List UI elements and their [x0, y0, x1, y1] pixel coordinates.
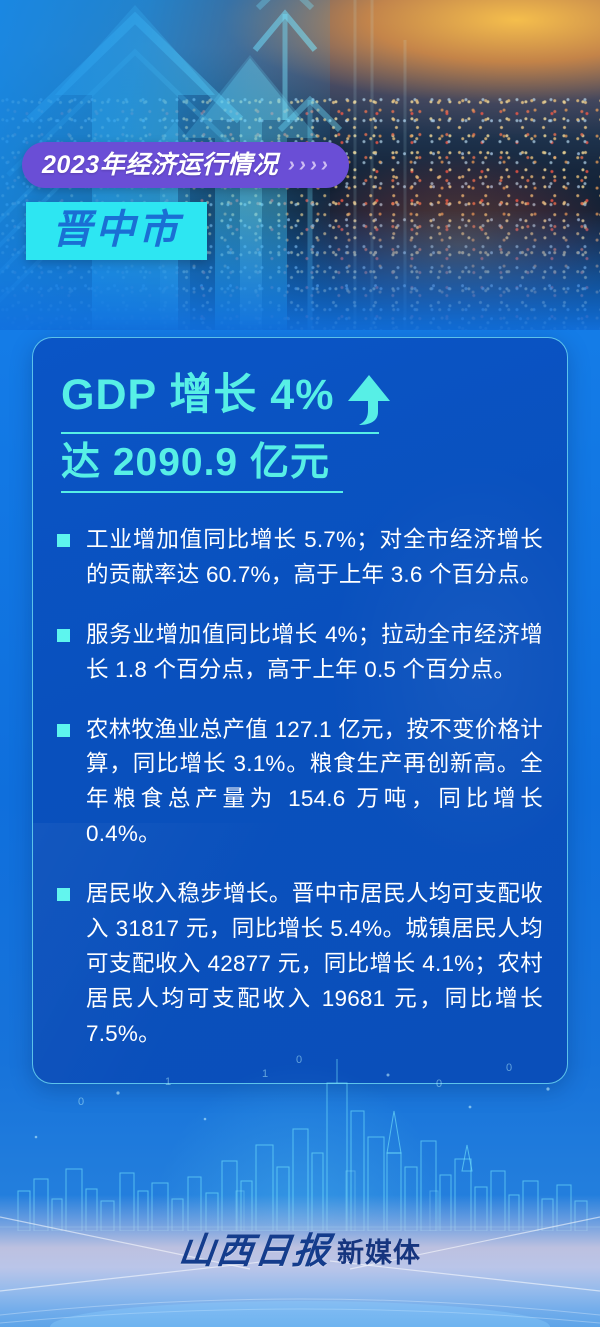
list-item: 工业增加值同比增长 5.7%；对全市经济增长的贡献率达 60.7%，高于上年 3…	[57, 523, 543, 593]
year-topic-label: 2023年经济运行情况	[42, 153, 278, 178]
stats-card: GDP 增长 4% 达 2090.9 亿元 工业增加值同比增长 5.7%；对全市…	[32, 337, 568, 1084]
year-topic-badge: 2023年经济运行情况 ››››	[22, 142, 349, 188]
headline-divider-bottom	[61, 491, 343, 493]
city-name-badge: 晋中市	[26, 202, 207, 260]
list-item: 服务业增加值同比增长 4%；拉动全市经济增长 1.8 个百分点，高于上年 0.5…	[57, 618, 543, 688]
headline-divider-top	[61, 432, 379, 434]
svg-text:0: 0	[506, 1062, 512, 1074]
list-item: 农林牧渔业总产值 127.1 亿元，按不变价格计算，同比增长 3.1%。粮食生产…	[57, 713, 543, 853]
brand-logo-primary: 山西日报	[177, 1233, 333, 1269]
headline-block: GDP 增长 4% 达 2090.9 亿元	[57, 372, 543, 493]
footer-brand-bar: 山西日报 新媒体	[0, 1195, 600, 1327]
list-item-text: 服务业增加值同比增长 4%；拉动全市经济增长 1.8 个百分点，高于上年 0.5…	[86, 618, 543, 688]
city-name-label: 晋中市	[52, 209, 181, 251]
list-item-text: 农林牧渔业总产值 127.1 亿元，按不变价格计算，同比增长 3.1%。粮食生产…	[86, 713, 543, 853]
chevron-right-icon: ››››	[288, 157, 331, 174]
square-bullet-icon	[57, 629, 70, 642]
brand-logo-secondary: 新媒体	[337, 1240, 421, 1269]
square-bullet-icon	[57, 534, 70, 547]
headline-sub-text: 达 2090.9 亿元	[61, 442, 539, 484]
bullet-list: 工业增加值同比增长 5.7%；对全市经济增长的贡献率达 60.7%，高于上年 3…	[57, 523, 543, 1051]
list-item: 居民收入稳步增长。晋中市居民人均可支配收入 31817 元，同比增长 5.4%。…	[57, 877, 543, 1051]
up-arrow-curved-icon	[346, 374, 392, 426]
square-bullet-icon	[57, 888, 70, 901]
brand-logo: 山西日报 新媒体	[0, 1233, 600, 1269]
list-item-text: 工业增加值同比增长 5.7%；对全市经济增长的贡献率达 60.7%，高于上年 3…	[86, 523, 543, 593]
poster-root: 2023年经济运行情况 ›››› 晋中市 GDP 增长 4% 达 2090.9 …	[0, 0, 600, 1327]
list-item-text: 居民收入稳步增长。晋中市居民人均可支配收入 31817 元，同比增长 5.4%。…	[86, 877, 543, 1051]
square-bullet-icon	[57, 724, 70, 737]
headline-main-text: GDP 增长 4%	[61, 372, 334, 418]
svg-text:0: 0	[78, 1096, 84, 1108]
